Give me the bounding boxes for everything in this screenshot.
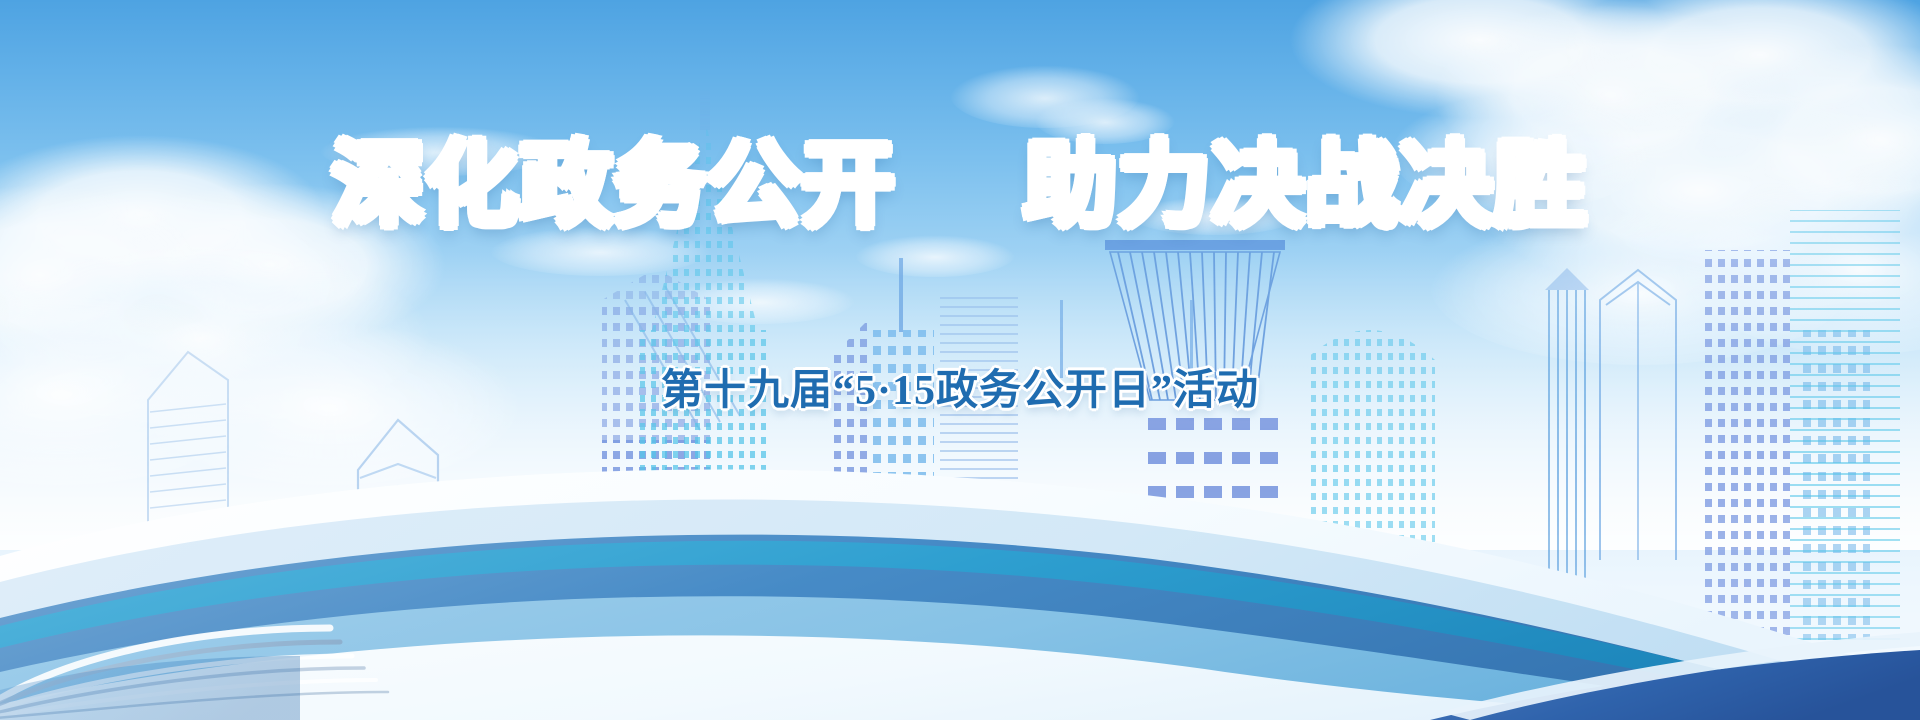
wave-ribbons <box>0 360 1920 720</box>
banner-root: 深化政务公开 助力决战决胜 第十九届“5·15政务公开日”活动 <box>0 0 1920 720</box>
